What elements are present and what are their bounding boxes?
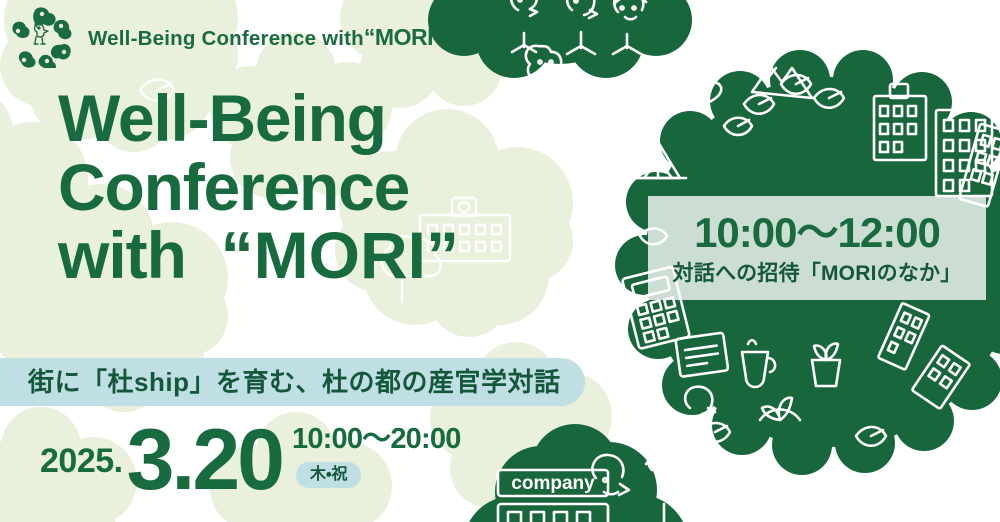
title-with: with bbox=[58, 218, 186, 292]
title-line-2: Conference bbox=[58, 153, 459, 222]
eyebrow-main: Well-Being Conference with bbox=[88, 27, 364, 50]
session-panel: 10:00〜12:00 対話への招待「MORIのなか」 bbox=[648, 196, 986, 300]
event-date-block: 2025. 3.20 10:00～20:00 木・祝 bbox=[40, 424, 461, 498]
session-time: 10:00〜12:00 bbox=[694, 212, 940, 254]
eyebrow-title: Well-Being Conference with“MORI” bbox=[88, 26, 444, 50]
weekday-badge: 木・祝 bbox=[296, 462, 361, 488]
title-line-3: with “MORI” bbox=[58, 221, 459, 290]
poster-canvas: company bbox=[0, 0, 1000, 522]
session-label: 対話への招待「MORIのなか」 bbox=[673, 263, 962, 284]
eyebrow-quoted: “MORI” bbox=[364, 24, 444, 50]
page-title: Well-Being Conference with “MORI” bbox=[58, 84, 459, 290]
event-time-block: 10:00～20:00 木・祝 bbox=[292, 425, 461, 498]
subtitle-text: 街に「杜ship」を育む、杜の都の産官学対話 bbox=[0, 369, 560, 395]
mori-logo[interactable] bbox=[8, 6, 74, 68]
subtitle-ribbon: 街に「杜ship」を育む、杜の都の産官学対話 bbox=[0, 358, 585, 406]
content-layer: Well-Being Conference with“MORI” Well-Be… bbox=[0, 0, 1000, 522]
event-year: 2025. bbox=[40, 444, 123, 498]
event-time-range: 10:00～20:00 bbox=[292, 425, 461, 454]
title-line-1: Well-Being bbox=[58, 84, 459, 153]
title-mori: “MORI” bbox=[221, 218, 459, 292]
event-day: 3.20 bbox=[127, 424, 282, 498]
